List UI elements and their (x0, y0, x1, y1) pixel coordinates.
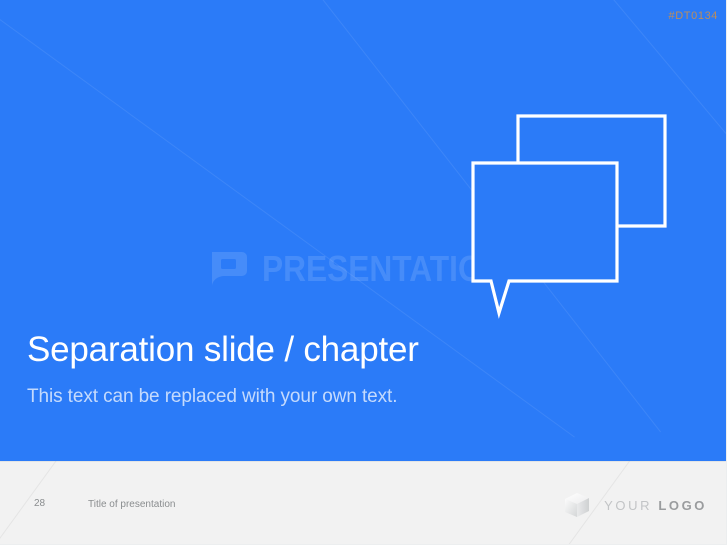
speech-bubbles-graphic (455, 100, 695, 330)
slide-subtitle: This text can be replaced with your own … (27, 386, 647, 409)
headline-block: Separation slide / chapter This text can… (27, 330, 647, 409)
presentation-title-label: Title of presentation (88, 499, 175, 510)
page-title: Separation slide / chapter (27, 330, 647, 370)
slide-background-panel: #DT0134 PRESENTATIONLOAD Separation slid… (0, 0, 727, 461)
speech-bubble-p-icon (205, 247, 249, 291)
logo-text-logo: LOGO (658, 498, 707, 513)
presentation-slide: #DT0134 PRESENTATIONLOAD Separation slid… (0, 0, 727, 545)
logo-block: YOUR LOGO (562, 490, 707, 520)
front-speech-bubble (473, 163, 617, 313)
logo-text: YOUR LOGO (604, 499, 707, 512)
page-number: 28 (34, 498, 45, 509)
cube-icon (562, 490, 592, 520)
logo-text-your: YOUR (604, 498, 652, 513)
template-id-label: #DT0134 (669, 10, 718, 22)
footer-divider (0, 461, 727, 462)
